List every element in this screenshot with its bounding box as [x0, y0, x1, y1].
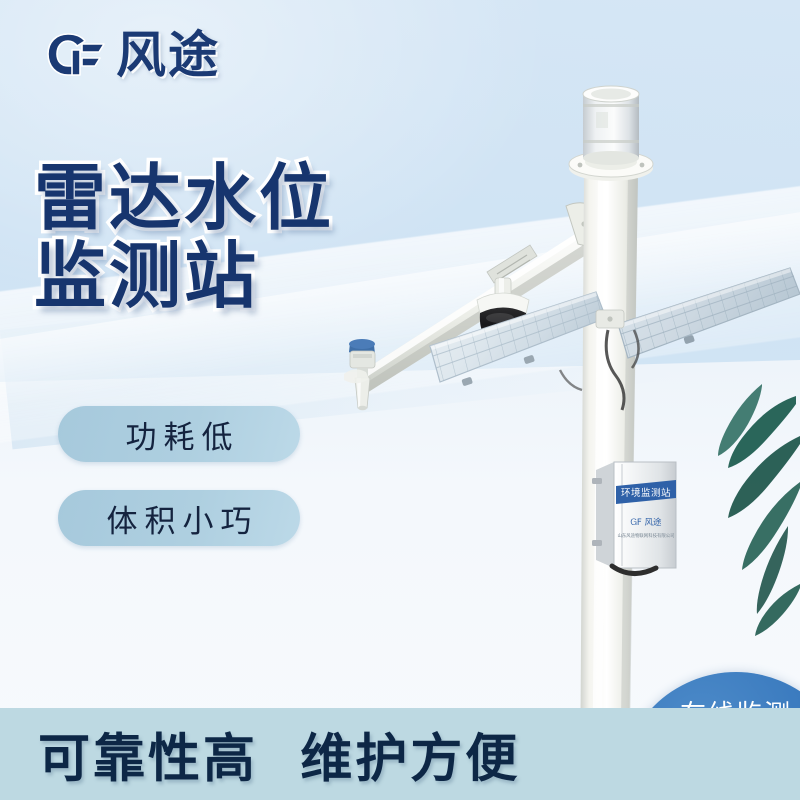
feature-pill-compact-size: 体积小巧 [58, 490, 300, 546]
gf-monogram-icon [44, 30, 106, 80]
bottom-tagline-bar: 可靠性高 维护方便 [0, 708, 800, 800]
product-poster: 环境监测站 ᏀF 风途 山东风途物联网科技有限公司 [0, 0, 800, 800]
solar-panel-right [618, 268, 800, 358]
monitoring-station-illustration: 环境监测站 ᏀF 风途 山东风途物联网科技有限公司 [0, 0, 800, 800]
monstera-leaf-icon [692, 378, 800, 658]
solar-panel-bracket [596, 310, 624, 328]
cabinet-company-text: 山东风途物联网科技有限公司 [617, 532, 674, 539]
feature-pill-label: 体积小巧 [100, 496, 259, 541]
rain-gauge-sensor [583, 86, 639, 165]
cabinet-brand-text: ᏀF 风途 [630, 517, 662, 528]
bottom-tagline-text: 可靠性高 维护方便 [38, 717, 520, 792]
page-title: 雷达水位 监测站 [34, 160, 334, 316]
cabinet-label-text: 环境监测站 [621, 487, 671, 499]
feature-pill-label: 功耗低 [119, 412, 240, 457]
control-cabinet: 环境监测站 ᏀF 风途 山东风途物联网科技有限公司 [592, 462, 676, 574]
feature-pill-list: 功耗低 体积小巧 [58, 406, 300, 574]
feature-pill-low-power: 功耗低 [58, 406, 300, 462]
brand-name: 风途 [116, 30, 220, 80]
brand-logo: 风途 [44, 30, 220, 80]
